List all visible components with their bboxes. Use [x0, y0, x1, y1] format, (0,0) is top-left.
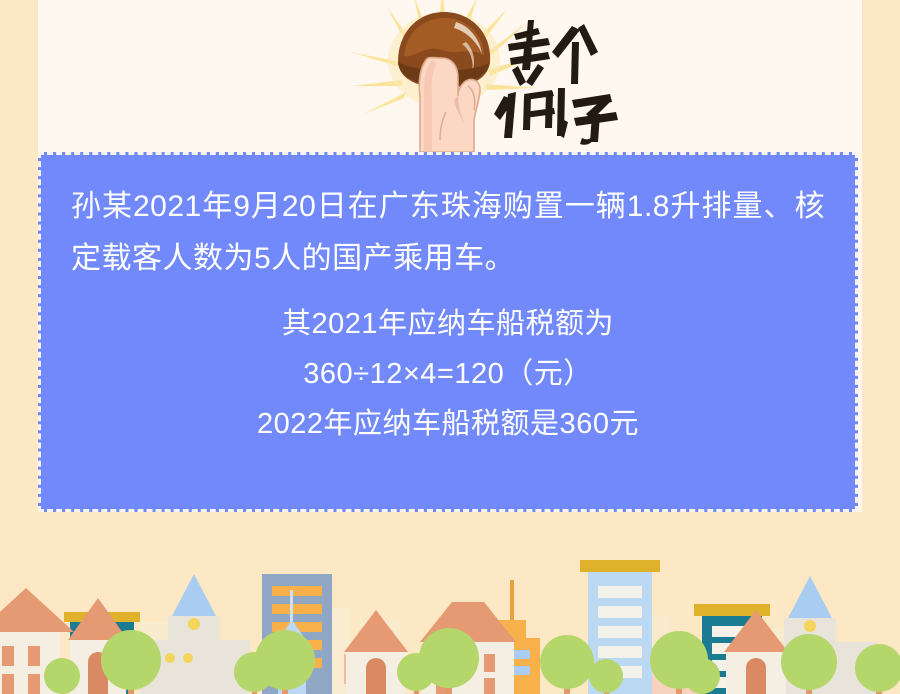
callout-line-2: 360÷12×4=120（元） [71, 349, 825, 399]
cityscape-illustration [0, 512, 900, 694]
callout-box: 孙某2021年9月20日在广东珠海购置一辆1.8升排量、核定载客人数为5人的国产… [38, 152, 858, 512]
callout-line-group: 其2021年应纳车船税额为 360÷12×4=120（元） 2022年应纳车船税… [71, 299, 825, 449]
callout-paragraph: 孙某2021年9月20日在广东珠海购置一辆1.8升排量、核定载客人数为5人的国产… [71, 181, 825, 285]
tree [684, 658, 720, 694]
header-illustration [38, 0, 862, 152]
poster-root: 孙某2021年9月20日在广东珠海购置一辆1.8升排量、核定载客人数为5人的国产… [0, 0, 900, 694]
callout-line-3: 2022年应纳车船税额是360元 [71, 399, 825, 449]
callout-line-1: 其2021年应纳车船税额为 [71, 299, 825, 349]
tree [44, 658, 80, 694]
